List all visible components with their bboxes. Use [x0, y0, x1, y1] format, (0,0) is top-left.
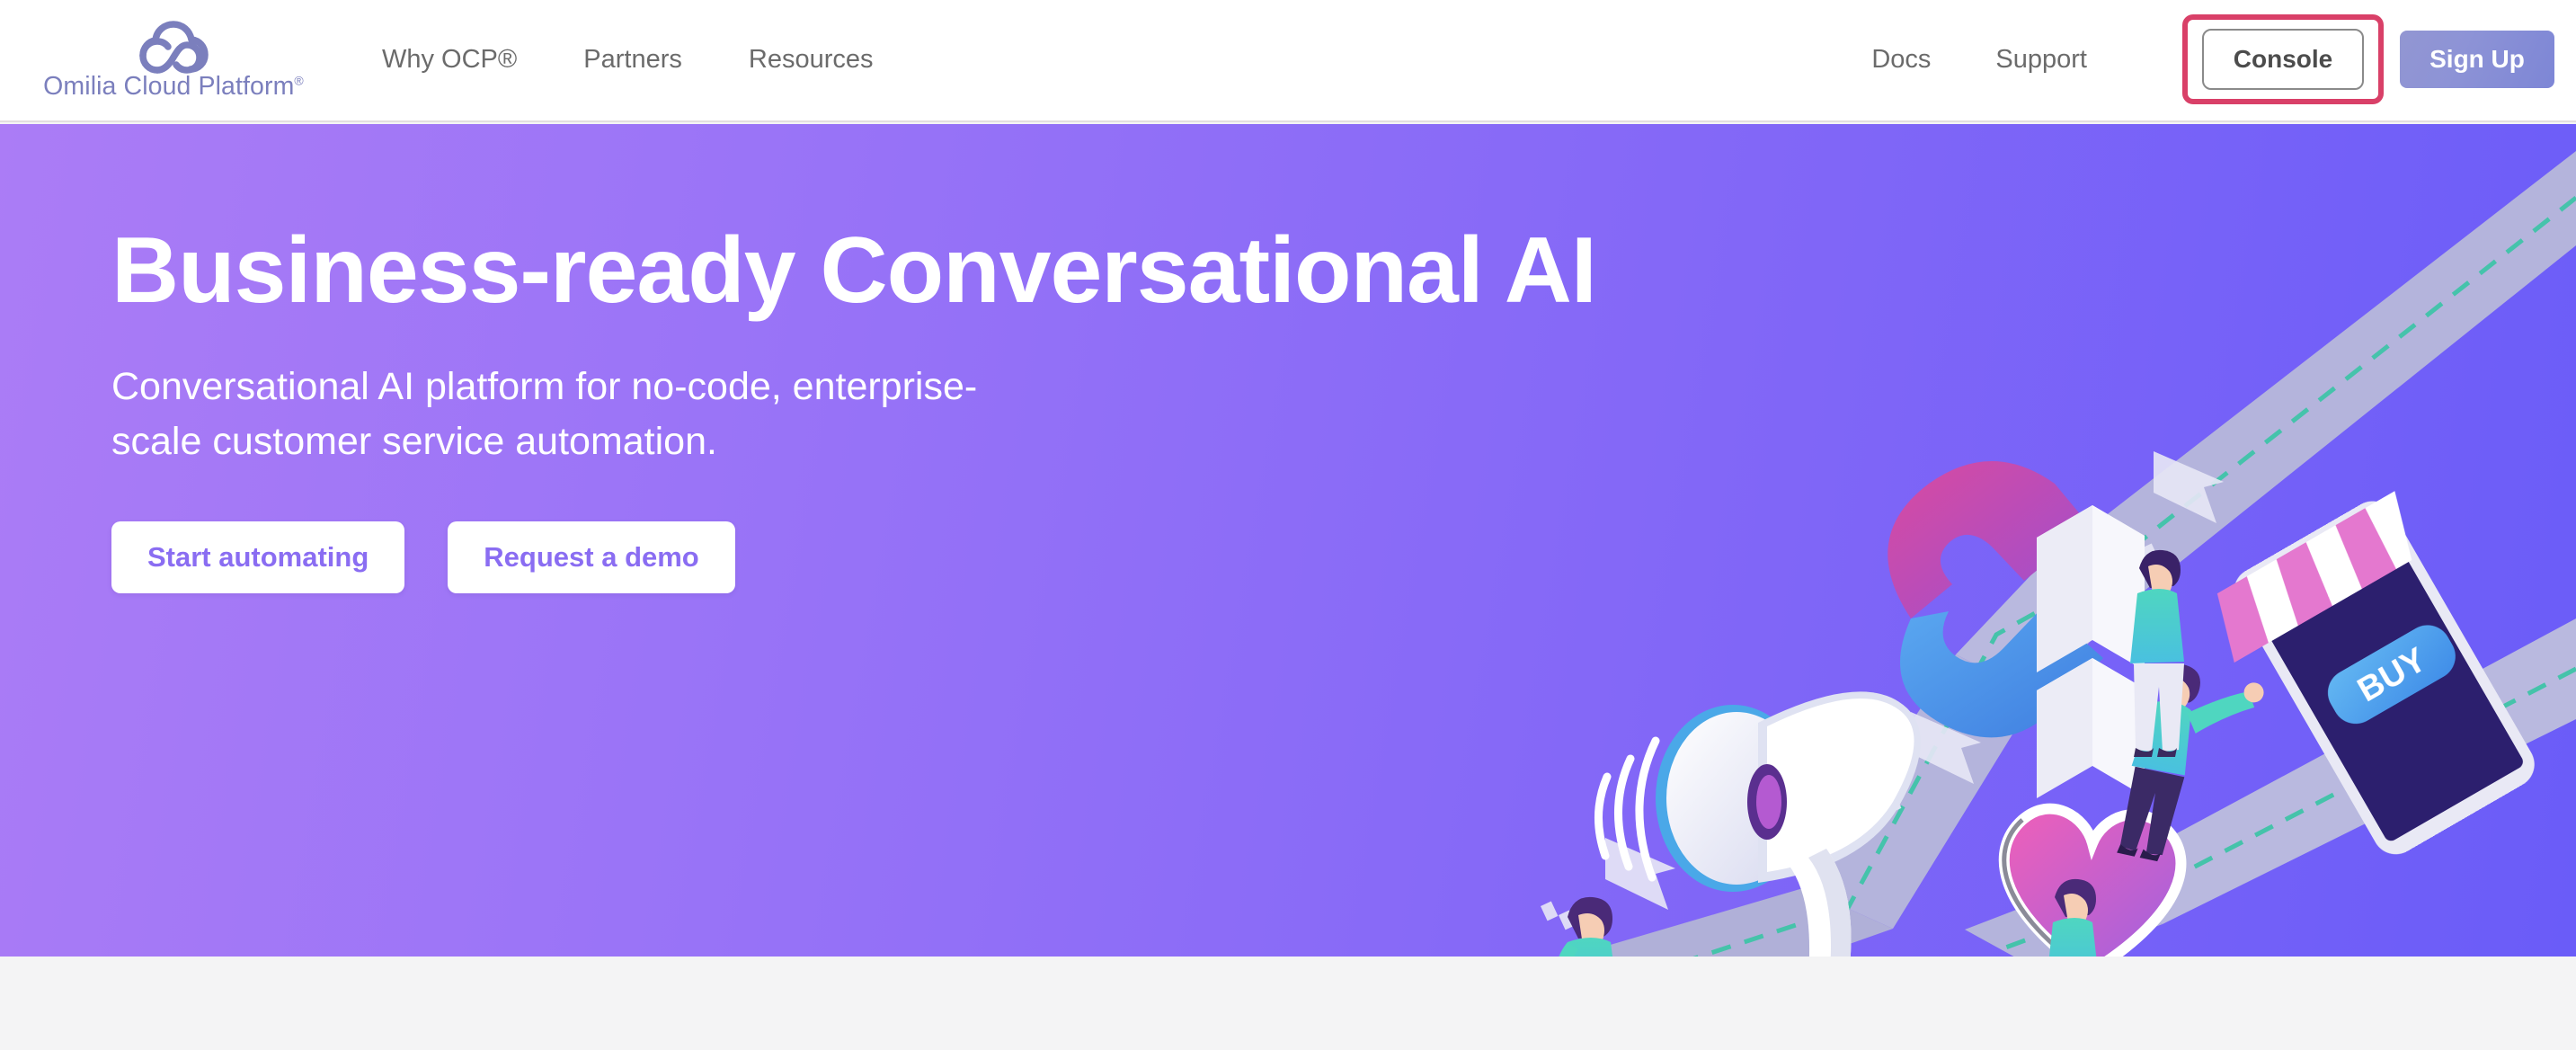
- ribbon-loop-shape: [1888, 461, 2103, 737]
- hero-copy-block: Business-ready Conversational AI Convers…: [111, 221, 1280, 593]
- sign-up-button[interactable]: Sign Up: [2400, 31, 2554, 88]
- megaphone-icon: [1598, 691, 1920, 957]
- start-automating-button[interactable]: Start automating: [111, 521, 404, 593]
- walking-person-figure-1: [1557, 897, 1620, 957]
- dashed-route-line: [1533, 198, 2576, 957]
- nav-link-partners[interactable]: Partners: [583, 38, 682, 82]
- brand-logo-link[interactable]: Omilia Cloud Platform®: [25, 0, 322, 119]
- isometric-blocks: [2037, 505, 2145, 798]
- arrow-icon: [1541, 451, 2224, 939]
- hero-section: Business-ready Conversational AI Convers…: [0, 124, 2576, 957]
- console-button[interactable]: Console: [2202, 29, 2364, 90]
- buy-button-label: BUY: [2319, 617, 2464, 733]
- svg-text:BUY: BUY: [2351, 641, 2432, 709]
- registered-trademark-mark: ®: [294, 73, 303, 87]
- hero-subtitle-line-2: scale customer service automation.: [111, 420, 717, 463]
- brand-name-text: Omilia Cloud Platform®: [43, 74, 304, 100]
- nav-link-resources[interactable]: Resources: [749, 38, 874, 82]
- page-content-below-hero: [0, 957, 2576, 1050]
- storefront-awning: [2200, 491, 2429, 663]
- heart-icon: [2004, 809, 2181, 957]
- walking-person-figure-3: [2113, 658, 2266, 876]
- zigzag-path-road: [1533, 151, 2576, 957]
- smartphone-storefront-icon: BUY: [2198, 486, 2554, 879]
- console-button-highlight-group: Console: [2182, 14, 2384, 104]
- nav-link-why-ocp[interactable]: Why OCP®: [382, 38, 517, 82]
- nav-link-docs[interactable]: Docs: [1871, 38, 1931, 82]
- page-title: Business-ready Conversational AI: [111, 221, 1280, 320]
- primary-navigation: Why OCP® Partners Resources: [382, 0, 940, 119]
- request-a-demo-button[interactable]: Request a demo: [448, 521, 734, 593]
- walking-person-figure-2: [2046, 879, 2100, 957]
- isometric-customer-journey-illustration: BUY: [1533, 124, 2576, 957]
- nav-link-support[interactable]: Support: [1995, 38, 2087, 82]
- walking-person-figure-4: [2130, 550, 2184, 757]
- hero-subtitle-line-1: Conversational AI platform for no-code, …: [111, 365, 977, 408]
- hero-action-buttons: Start automating Request a demo: [111, 521, 1280, 593]
- secondary-navigation: Docs Support Console Sign Up: [1871, 0, 2554, 119]
- top-navigation-bar: Omilia Cloud Platform® Why OCP® Partners…: [0, 0, 2576, 122]
- cloud-infinity-logo-icon: [125, 20, 222, 76]
- hero-subtitle: Conversational AI platform for no-code, …: [111, 360, 1100, 469]
